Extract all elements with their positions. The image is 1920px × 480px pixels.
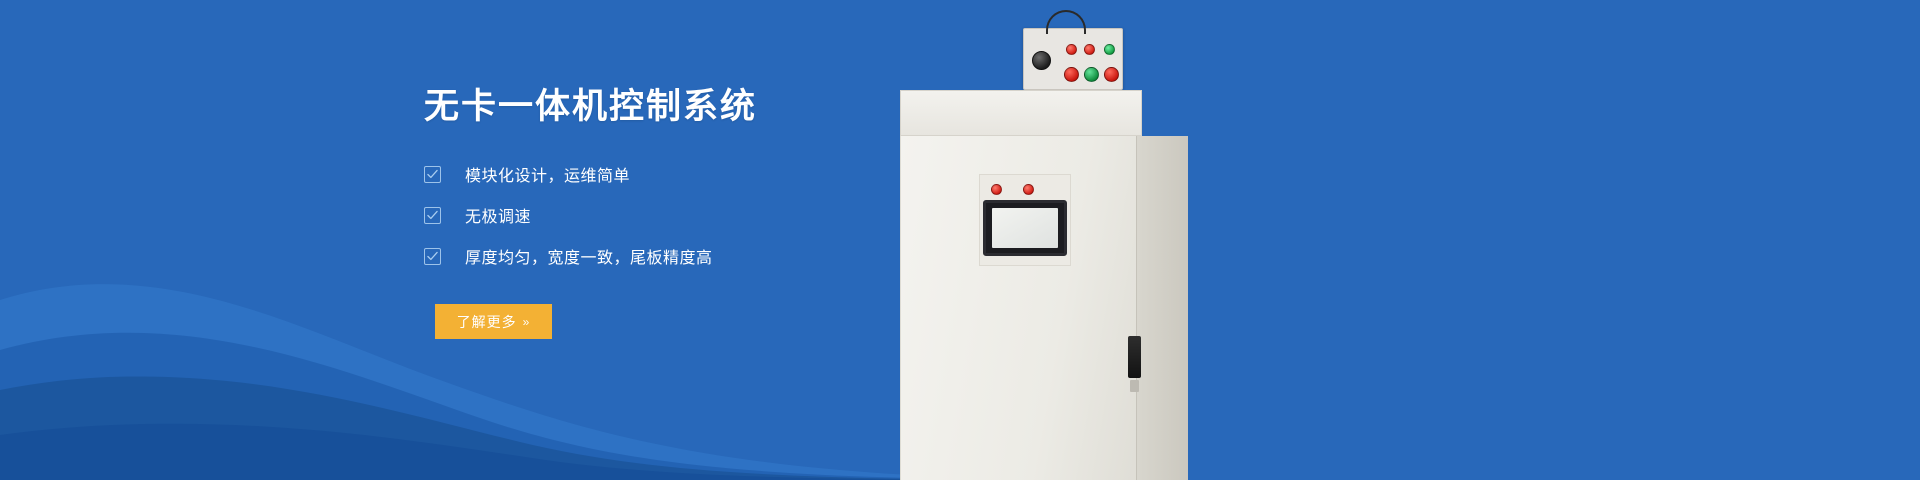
push-button-green[interactable] <box>1084 67 1099 82</box>
feature-item: 厚度均匀，宽度一致，尾板精度高 <box>424 244 984 268</box>
feature-item: 模块化设计，运维简单 <box>424 162 984 186</box>
banner-title: 无卡一体机控制系统 <box>424 86 984 128</box>
hmi-touchscreen[interactable] <box>983 200 1067 256</box>
feature-label: 厚度均匀，宽度一致，尾板精度高 <box>465 244 713 268</box>
checkbox-checked-icon <box>424 248 441 265</box>
feature-list: 模块化设计，运维简单 无极调速 厚度均匀，宽度一致，尾板精度高 <box>424 162 984 268</box>
checkbox-checked-icon <box>424 166 441 183</box>
indicator-lamp-red <box>1066 44 1077 55</box>
indicator-lamp-green <box>1104 44 1115 55</box>
feature-label: 无极调速 <box>465 203 531 227</box>
feature-label: 模块化设计，运维简单 <box>465 162 630 186</box>
learn-more-button[interactable]: 了解更多 » <box>435 304 552 339</box>
chevron-right-icon: » <box>523 315 531 329</box>
top-control-panel <box>1023 28 1123 90</box>
selector-knob[interactable] <box>1032 51 1051 70</box>
cabinet-door-handle[interactable] <box>1128 336 1141 378</box>
hmi-screen-display <box>992 208 1058 248</box>
status-light-red <box>991 184 1002 195</box>
push-button-red[interactable] <box>1064 67 1079 82</box>
hero-banner: 无卡一体机控制系统 模块化设计，运维简单 无极调速 厚度均匀，宽度一致，尾板精度… <box>0 0 1920 480</box>
cabinet-side-face <box>1136 136 1188 480</box>
push-button-red[interactable] <box>1104 67 1119 82</box>
banner-content: 无卡一体机控制系统 模块化设计，运维简单 无极调速 厚度均匀，宽度一致，尾板精度… <box>424 86 984 339</box>
indicator-lamp-red <box>1084 44 1095 55</box>
checkbox-checked-icon <box>424 207 441 224</box>
status-light-red <box>1023 184 1034 195</box>
learn-more-label: 了解更多 <box>457 312 517 332</box>
feature-item: 无极调速 <box>424 203 984 227</box>
